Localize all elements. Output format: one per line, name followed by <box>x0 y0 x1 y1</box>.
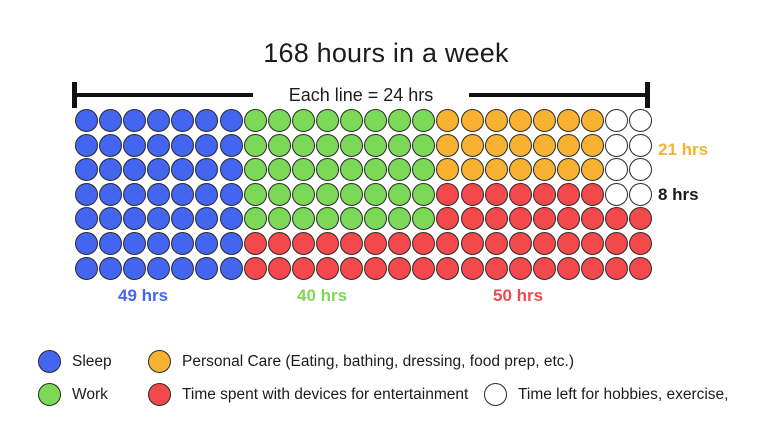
dot-personal-care <box>581 109 604 132</box>
dot-sleep <box>220 207 243 230</box>
dot-work <box>244 158 267 181</box>
dot-time-left <box>605 134 628 157</box>
legend-swatch-devices-icon <box>148 383 171 406</box>
dot-work <box>316 134 339 157</box>
dot-sleep <box>220 134 243 157</box>
dot-work <box>316 183 339 206</box>
dot-sleep <box>171 207 194 230</box>
dot-row <box>75 109 655 134</box>
dot-devices <box>509 232 532 255</box>
dot-sleep <box>99 257 122 280</box>
dot-devices <box>388 257 411 280</box>
dot-devices <box>605 232 628 255</box>
dot-sleep <box>99 232 122 255</box>
dot-sleep <box>147 158 170 181</box>
legend-label-work: Work <box>72 386 108 404</box>
dot-personal-care <box>509 158 532 181</box>
legend-swatch-personal-care-icon <box>148 350 171 373</box>
dot-time-left <box>629 134 652 157</box>
dot-sleep <box>171 257 194 280</box>
legend-swatch-time-left-icon <box>484 383 507 406</box>
dot-time-left <box>629 183 652 206</box>
dot-sleep <box>171 183 194 206</box>
dot-devices <box>268 257 291 280</box>
dot-work <box>340 158 363 181</box>
dot-sleep <box>99 134 122 157</box>
dot-devices <box>436 207 459 230</box>
dot-personal-care <box>557 109 580 132</box>
bracket-left-rule <box>75 93 253 97</box>
dot-sleep <box>99 158 122 181</box>
dot-work <box>388 183 411 206</box>
dot-work <box>244 109 267 132</box>
dot-work <box>316 158 339 181</box>
dot-personal-care <box>533 109 556 132</box>
dot-work <box>244 183 267 206</box>
dot-row <box>75 134 655 159</box>
dot-sleep <box>75 257 98 280</box>
dot-work <box>412 207 435 230</box>
legend-label-devices: Time spent with devices for entertainmen… <box>182 386 468 404</box>
dot-devices <box>557 232 580 255</box>
dot-work <box>316 109 339 132</box>
dot-personal-care <box>509 134 532 157</box>
dot-sleep <box>220 232 243 255</box>
dot-devices <box>509 257 532 280</box>
dot-time-left <box>605 109 628 132</box>
label-sleep-hours: 49 hrs <box>118 286 168 306</box>
dot-devices <box>461 183 484 206</box>
dot-work <box>412 158 435 181</box>
label-devices-hours: 50 hrs <box>493 286 543 306</box>
dot-devices <box>461 232 484 255</box>
dot-sleep <box>75 183 98 206</box>
dot-sleep <box>123 109 146 132</box>
dot-devices <box>581 257 604 280</box>
dot-sleep <box>171 232 194 255</box>
scale-label: Each line = 24 hrs <box>281 82 442 108</box>
legend-label-sleep: Sleep <box>72 353 112 371</box>
dot-work <box>340 207 363 230</box>
dot-sleep <box>123 158 146 181</box>
dot-row <box>75 232 655 257</box>
dot-devices <box>533 257 556 280</box>
dot-row <box>75 207 655 232</box>
legend-swatch-work-icon <box>38 383 61 406</box>
legend-item-time-left: Time left for hobbies, exercise, <box>484 383 728 406</box>
dot-devices <box>557 183 580 206</box>
dot-work <box>316 207 339 230</box>
dot-sleep <box>195 232 218 255</box>
dot-sleep <box>147 207 170 230</box>
dot-devices <box>485 257 508 280</box>
dot-devices <box>557 207 580 230</box>
scale-bracket: Each line = 24 hrs <box>72 82 650 108</box>
dot-personal-care <box>461 109 484 132</box>
dot-sleep <box>75 134 98 157</box>
dot-devices <box>364 232 387 255</box>
dot-work <box>244 134 267 157</box>
legend-swatch-sleep-icon <box>38 350 61 373</box>
dot-devices <box>533 207 556 230</box>
dot-row <box>75 158 655 183</box>
dot-devices <box>316 232 339 255</box>
dot-personal-care <box>485 109 508 132</box>
dot-work <box>340 183 363 206</box>
dot-sleep <box>220 257 243 280</box>
dot-work <box>340 134 363 157</box>
dot-personal-care <box>533 158 556 181</box>
dot-personal-care <box>485 158 508 181</box>
dot-devices <box>629 232 652 255</box>
dot-sleep <box>99 109 122 132</box>
dot-work <box>268 134 291 157</box>
dot-time-left <box>629 109 652 132</box>
dot-sleep <box>123 207 146 230</box>
dot-work <box>292 183 315 206</box>
dot-sleep <box>195 158 218 181</box>
dot-personal-care <box>533 134 556 157</box>
dot-devices <box>412 257 435 280</box>
dot-sleep <box>75 232 98 255</box>
dot-sleep <box>75 109 98 132</box>
dot-devices <box>340 232 363 255</box>
dot-work <box>364 109 387 132</box>
dot-devices <box>436 183 459 206</box>
dot-time-left <box>605 183 628 206</box>
dot-sleep <box>195 257 218 280</box>
dot-personal-care <box>436 134 459 157</box>
dot-sleep <box>147 183 170 206</box>
dot-work <box>364 134 387 157</box>
dot-work <box>292 158 315 181</box>
dot-devices <box>292 232 315 255</box>
dot-work <box>388 109 411 132</box>
dot-sleep <box>147 109 170 132</box>
dot-sleep <box>147 232 170 255</box>
dot-personal-care <box>581 158 604 181</box>
dot-sleep <box>220 109 243 132</box>
legend-item-sleep: Sleep <box>38 350 148 373</box>
dot-devices <box>461 207 484 230</box>
dot-devices <box>244 232 267 255</box>
dot-work <box>340 109 363 132</box>
dot-devices <box>485 183 508 206</box>
dot-devices <box>364 257 387 280</box>
dot-devices <box>629 207 652 230</box>
dot-row <box>75 183 655 208</box>
dot-sleep <box>123 183 146 206</box>
dot-devices <box>461 257 484 280</box>
dot-personal-care <box>461 158 484 181</box>
dot-work <box>292 207 315 230</box>
dot-devices <box>292 257 315 280</box>
dot-devices <box>533 232 556 255</box>
dot-personal-care <box>557 134 580 157</box>
dot-sleep <box>171 134 194 157</box>
legend-label-personal-care: Personal Care (Eating, bathing, dressing… <box>182 353 574 371</box>
label-work-hours: 40 hrs <box>297 286 347 306</box>
dot-sleep <box>220 158 243 181</box>
bracket-right-cap <box>645 82 650 108</box>
legend: Sleep Personal Care (Eating, bathing, dr… <box>38 345 772 411</box>
dot-personal-care <box>485 134 508 157</box>
dot-work <box>364 183 387 206</box>
dot-work <box>412 109 435 132</box>
dot-sleep <box>147 134 170 157</box>
dot-devices <box>485 232 508 255</box>
dot-work <box>244 207 267 230</box>
dot-personal-care <box>557 158 580 181</box>
dot-work <box>388 158 411 181</box>
dot-devices <box>244 257 267 280</box>
dot-work <box>268 109 291 132</box>
dot-work <box>268 158 291 181</box>
dot-sleep <box>195 207 218 230</box>
dot-personal-care <box>581 134 604 157</box>
dot-devices <box>533 183 556 206</box>
legend-item-personal-care: Personal Care (Eating, bathing, dressing… <box>148 350 484 373</box>
label-personal-care-hours: 21 hrs <box>658 140 708 160</box>
dot-personal-care <box>436 109 459 132</box>
dot-work <box>268 183 291 206</box>
dot-grid <box>75 109 655 281</box>
legend-label-time-left: Time left for hobbies, exercise, <box>518 386 728 404</box>
legend-row: Work Time spent with devices for enterta… <box>38 378 772 411</box>
dot-sleep <box>123 232 146 255</box>
dot-work <box>412 183 435 206</box>
bracket-right-rule <box>469 93 647 97</box>
legend-item-devices: Time spent with devices for entertainmen… <box>148 383 484 406</box>
dot-sleep <box>99 207 122 230</box>
dot-sleep <box>195 134 218 157</box>
dot-sleep <box>99 183 122 206</box>
dot-devices <box>268 232 291 255</box>
dot-sleep <box>171 109 194 132</box>
dot-sleep <box>123 134 146 157</box>
dot-sleep <box>123 257 146 280</box>
dot-work <box>292 134 315 157</box>
dot-sleep <box>75 207 98 230</box>
dot-devices <box>388 232 411 255</box>
dot-devices <box>605 257 628 280</box>
dot-devices <box>581 183 604 206</box>
legend-item-work: Work <box>38 383 148 406</box>
dot-work <box>388 207 411 230</box>
dot-sleep <box>195 109 218 132</box>
dot-time-left <box>605 158 628 181</box>
dot-devices <box>605 207 628 230</box>
dot-sleep <box>147 257 170 280</box>
dot-devices <box>485 207 508 230</box>
dot-devices <box>629 257 652 280</box>
dot-devices <box>436 232 459 255</box>
label-time-left-hours: 8 hrs <box>658 185 699 205</box>
dot-devices <box>581 232 604 255</box>
dot-devices <box>340 257 363 280</box>
dot-devices <box>436 257 459 280</box>
dot-devices <box>581 207 604 230</box>
dot-sleep <box>195 183 218 206</box>
dot-time-left <box>629 158 652 181</box>
dot-sleep <box>220 183 243 206</box>
dot-work <box>364 207 387 230</box>
dot-row <box>75 257 655 282</box>
dot-devices <box>412 232 435 255</box>
dot-personal-care <box>509 109 532 132</box>
dot-devices <box>509 207 532 230</box>
dot-work <box>364 158 387 181</box>
dot-work <box>292 109 315 132</box>
dot-devices <box>557 257 580 280</box>
dot-work <box>412 134 435 157</box>
dot-sleep <box>171 158 194 181</box>
dot-work <box>268 207 291 230</box>
dot-sleep <box>75 158 98 181</box>
page-title: 168 hours in a week <box>0 38 772 69</box>
dot-work <box>388 134 411 157</box>
dot-personal-care <box>436 158 459 181</box>
dot-personal-care <box>461 134 484 157</box>
dot-devices <box>316 257 339 280</box>
dot-devices <box>509 183 532 206</box>
legend-row: Sleep Personal Care (Eating, bathing, dr… <box>38 345 772 378</box>
